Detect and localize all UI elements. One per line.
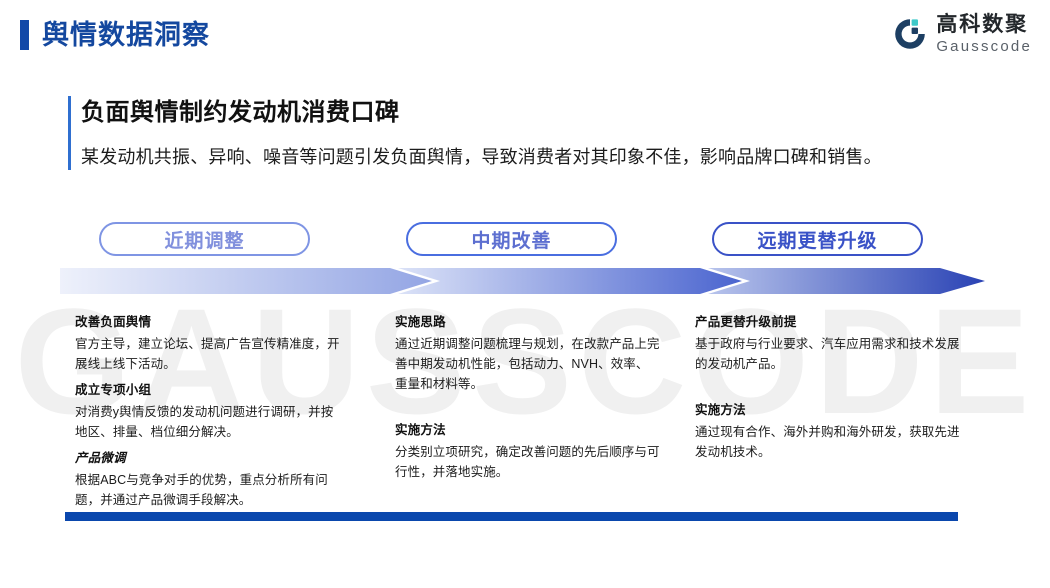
intro-heading: 负面舆情制约发动机消费口碑 <box>81 96 968 130</box>
detail-section-body: 根据ABC与竞争对手的优势，重点分析所有问题，并通过产品微调手段解决。 <box>75 470 340 510</box>
stage-detail-columns: 改善负面舆情 官方主导，建立论坛、提高广告宣传精准度，开展线上线下活动。 成立专… <box>0 312 1050 502</box>
intro-subtitle: 某发动机共振、异响、噪音等问题引发负面舆情，导致消费者对其印象不佳，影响品牌口碑… <box>81 144 968 170</box>
detail-section-title: 产品微调 <box>75 448 340 468</box>
brand-name-cn: 高科数聚 <box>936 14 1032 35</box>
detail-section: 成立专项小组 对消费y舆情反馈的发动机问题进行调研，并按地区、排量、档位细分解决… <box>75 380 340 442</box>
near-term-column: 改善负面舆情 官方主导，建立论坛、提高广告宣传精准度，开展线上线下活动。 成立专… <box>75 312 340 516</box>
detail-section-body: 通过现有合作、海外并购和海外研发，获取先进发动机技术。 <box>695 422 960 462</box>
stage-badge-near-term[interactable]: 近期调整 <box>99 222 310 256</box>
stage-badge-group: 近期调整 中期改善 远期更替升级 <box>0 222 1050 258</box>
intro-block: 负面舆情制约发动机消费口碑 某发动机共振、异响、噪音等问题引发负面舆情，导致消费… <box>68 96 968 170</box>
detail-section: 实施方法 通过现有合作、海外并购和海外研发，获取先进发动机技术。 <box>695 400 960 462</box>
detail-section-body: 通过近期调整问题梳理与规划，在改款产品上完善中期发动机性能，包括动力、NVH、效… <box>395 334 660 394</box>
detail-section-title: 实施思路 <box>395 312 660 332</box>
brand-logo: 高科数聚 Gausscode <box>892 14 1032 54</box>
slide-root: GAUSSCODE 舆情数据洞察 高科数聚 Gausscode 负面舆情制约发动… <box>0 0 1050 588</box>
mid-term-column: 实施思路 通过近期调整问题梳理与规划，在改款产品上完善中期发动机性能，包括动力、… <box>395 312 660 488</box>
footer-rule <box>65 512 958 521</box>
detail-section: 改善负面舆情 官方主导，建立论坛、提高广告宣传精准度，开展线上线下活动。 <box>75 312 340 374</box>
detail-section-title: 成立专项小组 <box>75 380 340 400</box>
detail-section-title: 实施方法 <box>695 400 960 420</box>
brand-name-en: Gausscode <box>936 39 1032 54</box>
detail-section-body: 基于政府与行业要求、汽车应用需求和技术发展的发动机产品。 <box>695 334 960 374</box>
gausscode-logo-mark-icon <box>892 16 928 52</box>
detail-section-title: 产品更替升级前提 <box>695 312 960 332</box>
detail-section-body: 分类别立项研究，确定改善问题的先后顺序与可行性，并落地实施。 <box>395 442 660 482</box>
detail-section: 实施思路 通过近期调整问题梳理与规划，在改款产品上完善中期发动机性能，包括动力、… <box>395 312 660 394</box>
detail-section: 产品更替升级前提 基于政府与行业要求、汽车应用需求和技术发展的发动机产品。 <box>695 312 960 374</box>
detail-section: 实施方法 分类别立项研究，确定改善问题的先后顺序与可行性，并落地实施。 <box>395 420 660 482</box>
brand-logo-text: 高科数聚 Gausscode <box>936 14 1032 54</box>
detail-section-title: 改善负面舆情 <box>75 312 340 332</box>
long-term-column: 产品更替升级前提 基于政府与行业要求、汽车应用需求和技术发展的发动机产品。 实施… <box>695 312 960 468</box>
detail-section-body: 对消费y舆情反馈的发动机问题进行调研，并按地区、排量、档位细分解决。 <box>75 402 340 442</box>
detail-section-title: 实施方法 <box>395 420 660 440</box>
detail-section-body: 官方主导，建立论坛、提高广告宣传精准度，开展线上线下活动。 <box>75 334 340 374</box>
header-accent-bar <box>20 20 29 50</box>
timeline-arrow-graphic <box>60 260 985 302</box>
stage-badge-long-term[interactable]: 远期更替升级 <box>712 222 923 256</box>
stage-badge-mid-term[interactable]: 中期改善 <box>406 222 617 256</box>
slide-header: 舆情数据洞察 高科数聚 Gausscode <box>0 0 1050 70</box>
page-title: 舆情数据洞察 <box>42 15 210 55</box>
detail-section: 产品微调 根据ABC与竞争对手的优势，重点分析所有问题，并通过产品微调手段解决。 <box>75 448 340 510</box>
